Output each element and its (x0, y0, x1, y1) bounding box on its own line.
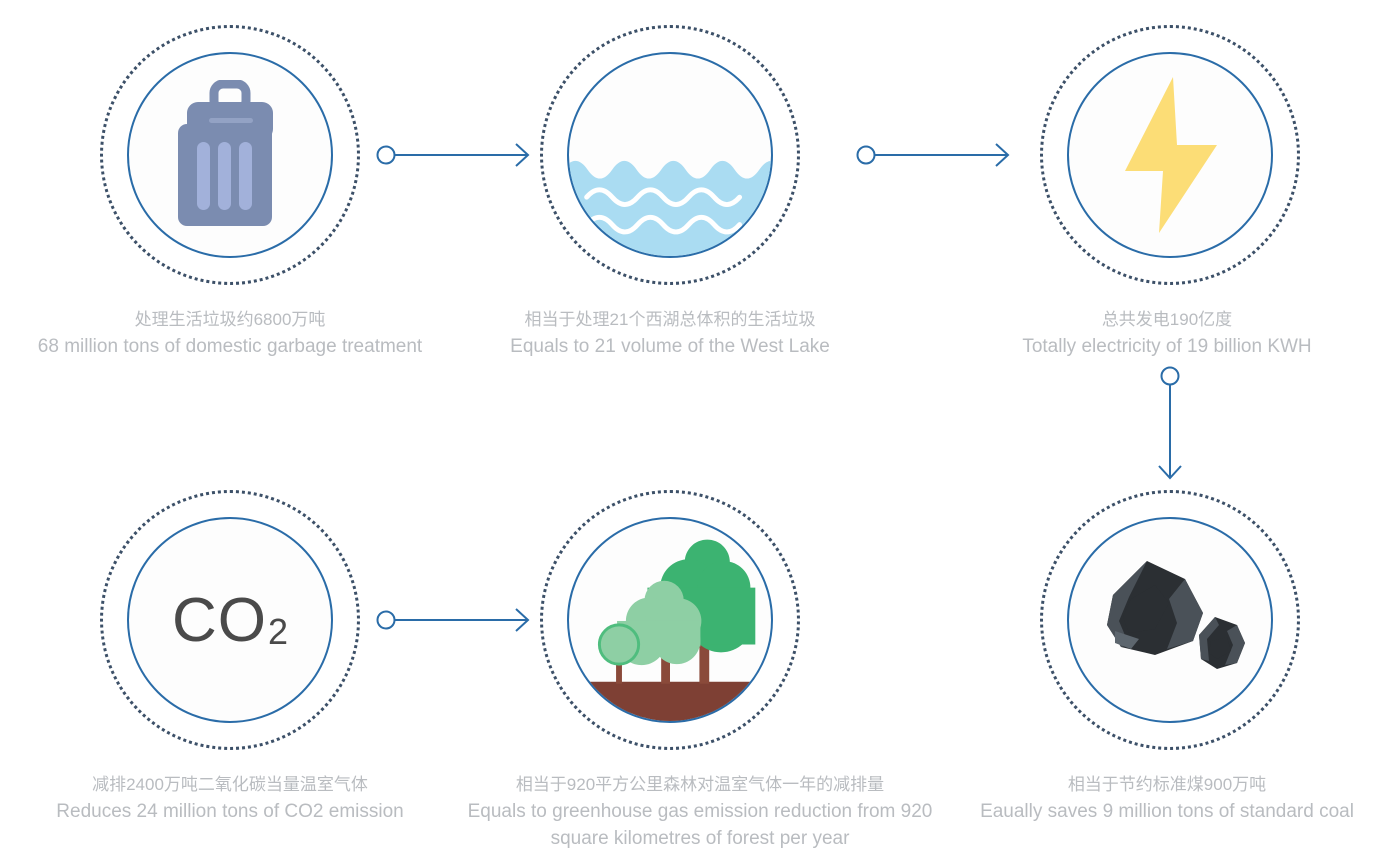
caption-electricity: 总共发电190亿度 Totally electricity of 19 bill… (940, 308, 1394, 360)
caption-co2: 减排2400万吨二氧化碳当量温室气体 Reduces 24 million to… (0, 773, 460, 825)
caption-cn: 总共发电190亿度 (940, 308, 1394, 333)
node-electricity[interactable] (1040, 25, 1300, 285)
forest-trees-icon (569, 519, 771, 721)
connector-electricity-to-coal (1153, 366, 1187, 486)
solid-ring (1067, 52, 1273, 258)
caption-en: Reduces 24 million tons of CO2 emission (0, 798, 460, 826)
caption-en-line1: Equals to greenhouse gas emission reduct… (435, 798, 965, 826)
solid-ring (567, 52, 773, 258)
caption-cn: 相当于处理21个西湖总体积的生活垃圾 (440, 308, 900, 333)
node-forest[interactable] (540, 490, 800, 750)
caption-en: 68 million tons of domestic garbage trea… (0, 333, 460, 361)
coal-lumps-icon (1069, 519, 1271, 721)
connector-lake-to-electricity (856, 138, 1016, 172)
node-coal[interactable] (1040, 490, 1300, 750)
solid-ring (127, 52, 333, 258)
node-co2[interactable]: CO2 (100, 490, 360, 750)
node-garbage[interactable] (100, 25, 360, 285)
water-lake-icon (569, 54, 771, 256)
caption-cn: 相当于节约标准煤900万吨 (940, 773, 1394, 798)
co2-subscript: 2 (268, 611, 289, 653)
caption-en: Equals to 21 volume of the West Lake (440, 333, 900, 361)
trash-bin-icon (129, 54, 331, 256)
caption-lake: 相当于处理21个西湖总体积的生活垃圾 Equals to 21 volume o… (440, 308, 900, 360)
connector-co2-to-forest (376, 603, 536, 637)
infographic-canvas: 处理生活垃圾约6800万吨 68 million tons of domesti… (0, 0, 1394, 859)
caption-cn: 相当于920平方公里森林对温室气体一年的减排量 (435, 773, 965, 798)
caption-cn: 减排2400万吨二氧化碳当量温室气体 (0, 773, 460, 798)
caption-garbage: 处理生活垃圾约6800万吨 68 million tons of domesti… (0, 308, 460, 360)
solid-ring (1067, 517, 1273, 723)
co2-main-text: CO (172, 585, 267, 656)
caption-coal: 相当于节约标准煤900万吨 Eaually saves 9 million to… (940, 773, 1394, 825)
solid-ring (567, 517, 773, 723)
node-lake[interactable] (540, 25, 800, 285)
caption-forest: 相当于920平方公里森林对温室气体一年的减排量 Equals to greenh… (435, 773, 965, 853)
caption-en-line2: square kilometres of forest per year (435, 825, 965, 853)
co2-text-icon: CO2 (129, 519, 331, 721)
connector-garbage-to-lake (376, 138, 536, 172)
solid-ring: CO2 (127, 517, 333, 723)
caption-en: Eaually saves 9 million tons of standard… (940, 798, 1394, 826)
caption-en: Totally electricity of 19 billion KWH (940, 333, 1394, 361)
lightning-bolt-icon (1069, 54, 1271, 256)
caption-cn: 处理生活垃圾约6800万吨 (0, 308, 460, 333)
